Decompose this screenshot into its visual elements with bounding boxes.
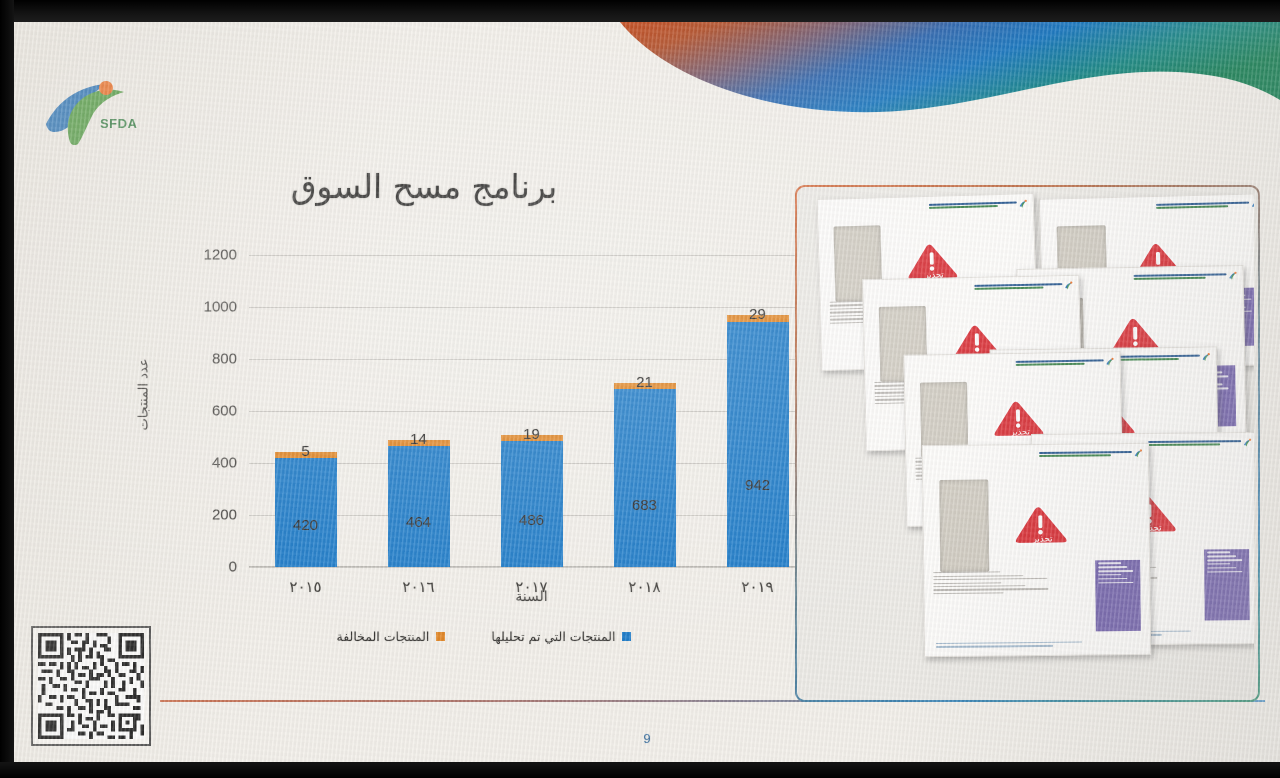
y-axis-tick: 1200 bbox=[204, 247, 237, 264]
y-gridline bbox=[249, 567, 814, 568]
y-axis-tick: 800 bbox=[212, 351, 237, 368]
bar-value-analyzed: 683 bbox=[614, 497, 676, 514]
sfda-glyph-icon bbox=[1134, 448, 1143, 457]
y-gridline bbox=[249, 255, 814, 256]
bar-segment-analyzed bbox=[275, 458, 337, 567]
y-axis-tick: 400 bbox=[212, 455, 237, 472]
y-axis-tick: 600 bbox=[212, 403, 237, 420]
legend-label: المنتجات المخالفة bbox=[337, 629, 430, 644]
legend-swatch-icon bbox=[436, 632, 445, 641]
sfda-glyph-icon bbox=[1202, 352, 1211, 361]
sfda-glyph-icon bbox=[1106, 357, 1115, 366]
sfda-wordmark bbox=[1134, 270, 1226, 283]
y-axis-tick: 0 bbox=[229, 559, 237, 576]
sfda-wordmark bbox=[1148, 438, 1240, 450]
sfda-logo-icon bbox=[1156, 198, 1254, 212]
bar-column: 48619٢٠١٧ bbox=[501, 435, 563, 567]
bar-value-analyzed: 486 bbox=[501, 512, 563, 529]
notice-purple-panel bbox=[1204, 549, 1250, 621]
bar-value-analyzed: 942 bbox=[727, 477, 789, 494]
monitor-bezel-bottom bbox=[0, 762, 1280, 778]
sfda-logo-icon bbox=[1148, 437, 1251, 449]
svg-text:تحذير: تحذير bbox=[1010, 426, 1031, 436]
page-title: برنامج مسح السوق bbox=[214, 167, 634, 221]
bar-column: 68321٢٠١٨ bbox=[614, 383, 676, 567]
sfda-wordmark bbox=[929, 199, 1017, 212]
sfda-glyph-icon bbox=[1065, 281, 1074, 290]
monitor-bezel-left bbox=[0, 0, 14, 778]
sfda-glyph-icon bbox=[1019, 199, 1028, 208]
y-axis-tick: 1000 bbox=[204, 299, 237, 316]
bar-value-violating: 19 bbox=[501, 426, 563, 443]
sfda-wordmark bbox=[1016, 356, 1104, 369]
svg-text:تحذير: تحذير bbox=[1032, 534, 1054, 544]
sfda-wordmark bbox=[1107, 351, 1199, 363]
warning-notices-collage: تحذيرتحذيرتحذيرتحذيرتحذيرتحذيرتحذيرتحذير bbox=[795, 185, 1260, 702]
monitor-photograph: SFDA bbox=[0, 0, 1280, 778]
svg-text:SFDA: SFDA bbox=[100, 116, 138, 131]
sfda-logo-icon bbox=[1039, 447, 1142, 459]
legend-label: المنتجات التي تم تحليلها bbox=[491, 629, 615, 644]
bar-column: 4205٢٠١٥ bbox=[275, 452, 337, 567]
sfda-glyph-icon bbox=[1243, 438, 1252, 447]
bar-value-violating: 29 bbox=[727, 306, 789, 323]
plot-area: 0200400600800100012004205٢٠١٥46414٢٠١٦48… bbox=[249, 255, 814, 567]
notice-purple-panel bbox=[1095, 559, 1141, 631]
legend-item-violating[interactable]: المنتجات المخالفة bbox=[337, 629, 446, 644]
bar-segment-analyzed bbox=[501, 441, 563, 567]
monitor-bezel-top bbox=[0, 0, 1280, 22]
sfda-glyph-icon bbox=[1228, 271, 1237, 280]
chart-legend: المنتجات التي تم تحليلهاالمنتجات المخالف… bbox=[244, 629, 724, 644]
collage-inner: تحذيرتحذيرتحذيرتحذيرتحذيرتحذيرتحذيرتحذير bbox=[801, 191, 1254, 696]
bar-value-violating: 21 bbox=[614, 374, 676, 391]
page-number: 9 bbox=[14, 731, 1280, 746]
bar-value-analyzed: 464 bbox=[388, 514, 450, 531]
legend-swatch-icon bbox=[622, 632, 631, 641]
bar-column: 46414٢٠١٦ bbox=[388, 440, 450, 567]
bar-value-violating: 5 bbox=[275, 443, 337, 460]
bar-segment-analyzed bbox=[727, 322, 789, 567]
sfda-wordmark bbox=[1039, 447, 1131, 459]
notice-footer-contact bbox=[936, 640, 1138, 647]
warning-triangle-icon: تحذير bbox=[1009, 486, 1077, 562]
x-axis-label: السنة bbox=[249, 589, 814, 605]
sfda-wordmark bbox=[1156, 199, 1249, 212]
bar-segment-analyzed bbox=[388, 446, 450, 567]
header-wave-decoration bbox=[540, 22, 1280, 152]
product-photo bbox=[939, 479, 989, 572]
sfda-logo-icon bbox=[1134, 270, 1237, 283]
sfda-logo: SFDA bbox=[40, 74, 148, 146]
notice-cosmetic-tins: تحذير bbox=[922, 442, 1151, 656]
sfda-glyph-icon bbox=[1251, 199, 1254, 208]
y-axis-label: عدد المنتجات bbox=[137, 335, 152, 455]
sfda-logo-icon bbox=[1107, 351, 1210, 363]
bar-value-violating: 14 bbox=[388, 431, 450, 448]
bar-segment-analyzed bbox=[614, 389, 676, 567]
presentation-slide: SFDA bbox=[14, 22, 1280, 764]
legend-item-analyzed[interactable]: المنتجات التي تم تحليلها bbox=[491, 629, 631, 644]
notice-body-text bbox=[933, 570, 1072, 594]
bar-column: 94229٢٠١٩ bbox=[727, 315, 789, 567]
y-axis-tick: 200 bbox=[212, 507, 237, 524]
bar-value-analyzed: 420 bbox=[275, 517, 337, 534]
sfda-logo-icon bbox=[975, 280, 1074, 293]
sfda-logo-icon bbox=[929, 198, 1028, 212]
sfda-logo-icon bbox=[1016, 356, 1115, 369]
sfda-wordmark bbox=[975, 280, 1063, 293]
market-survey-bar-chart: عدد المنتجات 0200400600800100012004205٢٠… bbox=[94, 237, 774, 657]
